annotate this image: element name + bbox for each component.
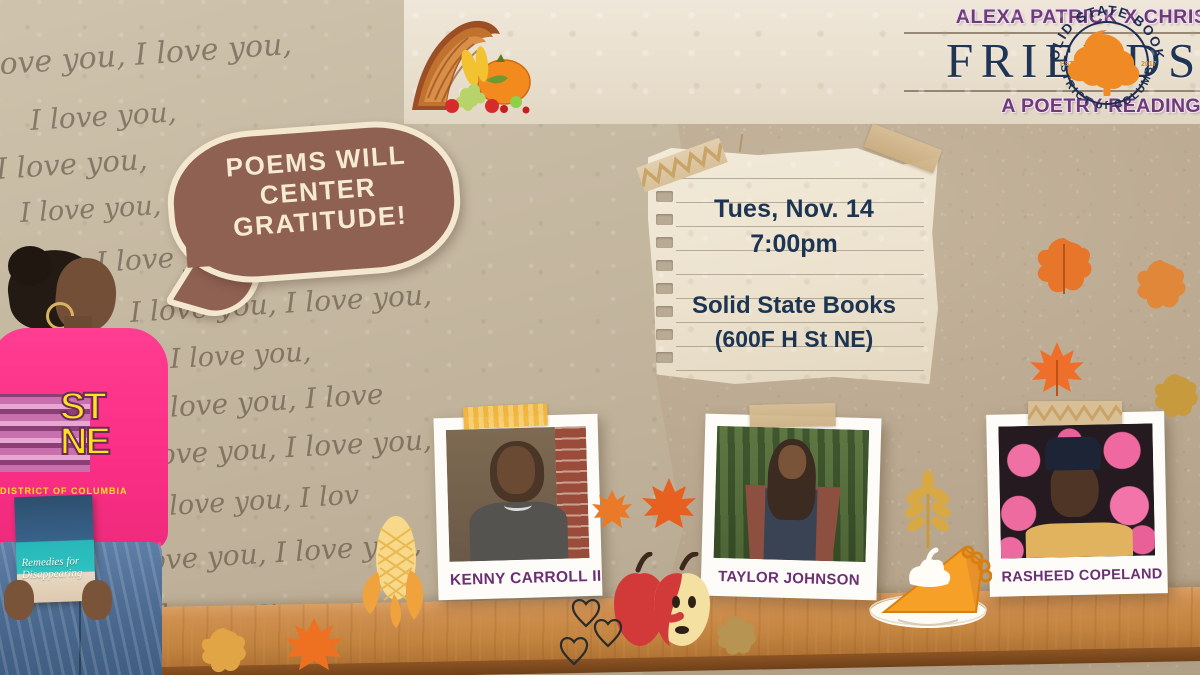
sweatshirt-stne-text: ST NE (60, 390, 128, 460)
event-time: 7:00pm (668, 227, 920, 262)
maple-leaf-icon (1028, 340, 1086, 396)
handwriting-line: I love you, I lov (149, 480, 360, 523)
reader-photo (714, 426, 870, 562)
maple-leaf-icon (640, 476, 698, 532)
reader-polaroid-rasheed: RASHEED COPELAND (986, 411, 1168, 597)
hair-bun (8, 246, 52, 286)
face (497, 446, 536, 495)
reader-photo (446, 426, 590, 562)
logo-est-right: 2017 (1141, 61, 1157, 68)
oak-leaf-icon (712, 614, 760, 662)
handwriting-line: I love you, I love (149, 377, 384, 425)
handwriting-line: I love you, (19, 190, 162, 229)
reader-polaroid-taylor: TAYLOR JOHNSON (700, 414, 881, 601)
yellow-jacket (1025, 522, 1133, 559)
oak-leaf-icon (196, 626, 252, 675)
note-rule (676, 370, 924, 371)
kraft-tape (749, 403, 836, 428)
kenny-portrait (446, 426, 590, 562)
taylor-portrait (714, 426, 870, 562)
oak-leaf-icon (1032, 236, 1096, 298)
yellow-grid-tape (463, 403, 548, 429)
tree-icon (1068, 30, 1140, 96)
left-hand (4, 580, 34, 620)
handwriting-line: love you, I love you, (0, 27, 293, 83)
handwriting-line: I love you, (169, 337, 312, 375)
reader-polaroid-kenny: KENNY CARROLL II (433, 414, 602, 601)
speech-bubble: POEMS WILL CENTER GRATITUDE! (158, 122, 468, 327)
face (778, 445, 806, 480)
maple-leaf-icon (282, 616, 346, 672)
handwriting-line: I love you, (0, 142, 149, 186)
reader-name: KENNY CARROLL II (450, 558, 591, 600)
solid-state-books-logo: SOLID STATE BOOKS DISTRICT of COLUMBIA E… (1046, 2, 1168, 124)
beanie-hat (1045, 436, 1101, 470)
oak-leaf-icon (1150, 372, 1200, 424)
reader-name: RASHEED COPELAND (1001, 555, 1156, 596)
handwriting-line: I love you, (29, 95, 177, 137)
reader-photo (998, 423, 1155, 558)
wheat-icon (898, 462, 956, 548)
event-poster: love you, I love you,I love you,I love y… (0, 0, 1200, 675)
note-rule (676, 178, 924, 179)
cornucopia-icon (404, 6, 536, 124)
rasheed-portrait (998, 423, 1155, 558)
zigzag-tape (1028, 401, 1122, 425)
book-title-line2: Disappearing (22, 567, 83, 581)
event-venue: Solid State Books (668, 288, 920, 324)
oak-leaf-icon (1132, 258, 1190, 314)
corn-icon (356, 510, 432, 628)
note-content: Tues, Nov. 14 7:00pm Solid State Books (… (668, 192, 920, 354)
right-hand (82, 580, 112, 620)
sweatshirt-sub-text: DISTRICT OF COLUMBIA (0, 486, 128, 496)
event-address: (600F H St NE) (668, 324, 920, 354)
hearts-icon (556, 596, 626, 670)
maple-leaf-icon (590, 488, 634, 530)
sweatshirt-graphic: ST NE DISTRICT OF COLUMBIA (0, 388, 128, 498)
book-title: Remedies for Disappearing (21, 555, 92, 582)
event-details-note: Tues, Nov. 14 7:00pm Solid State Books (… (648, 148, 938, 384)
event-date: Tues, Nov. 14 (668, 192, 920, 227)
woman-with-book-photo: ST NE DISTRICT OF COLUMBIA Remedies for … (0, 250, 176, 675)
reader-name: TAYLOR JOHNSON (712, 558, 865, 600)
